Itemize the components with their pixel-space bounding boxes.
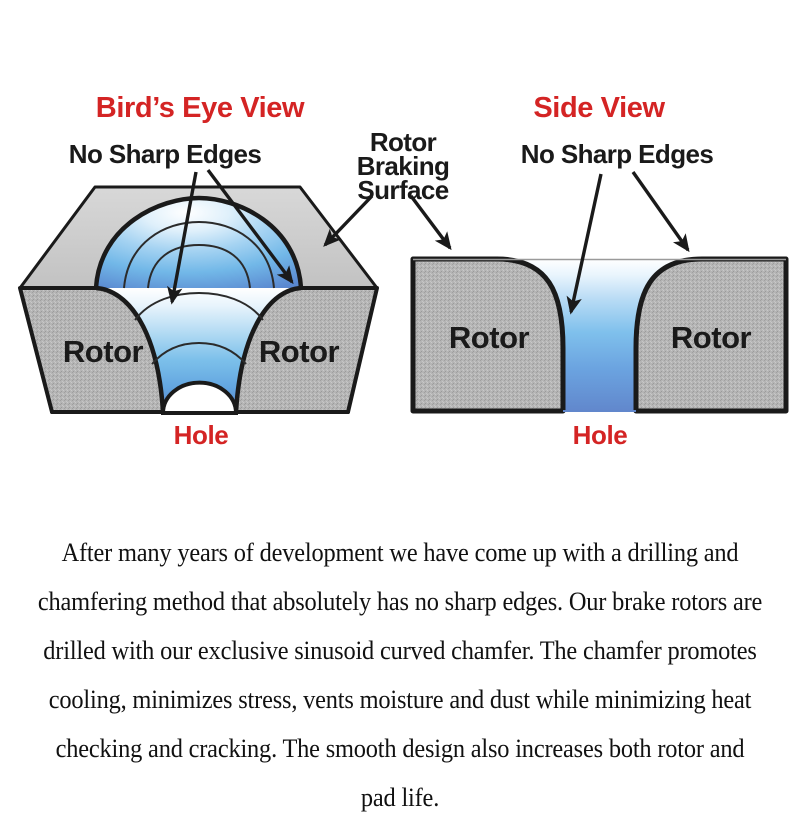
rotor-braking-surface-line-3: Surface xyxy=(357,175,448,205)
hole-label-birdseye: Hole xyxy=(174,420,229,450)
diagram-page: Bird’s Eye View No Sharp Edges Rotor Bra… xyxy=(0,0,800,800)
no-sharp-edges-label-right: No Sharp Edges xyxy=(521,139,714,169)
birds-eye-view-title: Bird’s Eye View xyxy=(96,92,305,124)
rotor-label-birdseye-left: Rotor xyxy=(63,334,144,369)
arrow-no-sharp-edges-right-2 xyxy=(633,172,688,250)
birds-eye-block xyxy=(20,187,377,413)
rotor-label-birdseye-right: Rotor xyxy=(259,334,340,369)
rotor-label-sideview-left: Rotor xyxy=(449,320,530,355)
hole-label-sideview: Hole xyxy=(573,420,628,450)
description-paragraph: After many years of development we have … xyxy=(38,528,763,822)
rotor-label-sideview-right: Rotor xyxy=(671,320,752,355)
no-sharp-edges-label-left: No Sharp Edges xyxy=(69,139,262,169)
side-view-title: Side View xyxy=(533,92,665,124)
